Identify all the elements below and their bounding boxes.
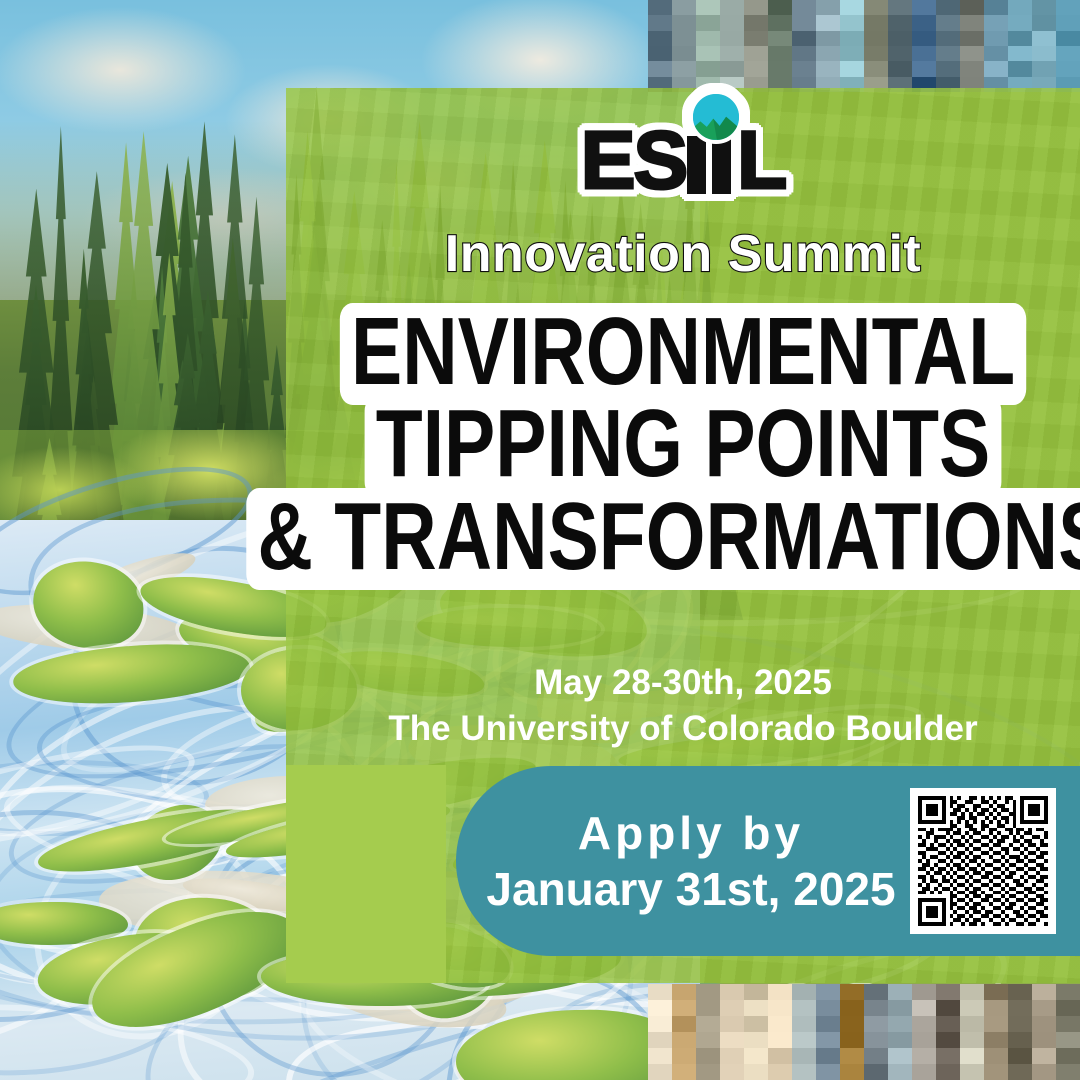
mosaic-pixel [672, 1048, 696, 1064]
mosaic-pixel [912, 1064, 936, 1080]
mosaic-pixel [984, 984, 1008, 1000]
mosaic-pixel [768, 15, 792, 30]
mosaic-pixel [960, 1048, 984, 1064]
mosaic-pixel [912, 1048, 936, 1064]
mosaic-pixel [1032, 984, 1056, 1000]
mosaic-pixel [984, 61, 1008, 76]
mosaic-pixel [1056, 61, 1080, 76]
mosaic-pixel [840, 0, 864, 15]
mosaic-pixel [792, 15, 816, 30]
mosaic-pixel [648, 1048, 672, 1064]
mosaic-pixel [648, 46, 672, 61]
mosaic-pixel [984, 1048, 1008, 1064]
mosaic-pixel [1056, 15, 1080, 30]
mosaic-pixel [960, 46, 984, 61]
mosaic-pixel [864, 46, 888, 61]
mosaic-pixel [792, 46, 816, 61]
mosaic-pixel [720, 1032, 744, 1048]
mosaic-pixel [696, 1048, 720, 1064]
mosaic-pixel [768, 46, 792, 61]
mosaic-pixel [816, 1048, 840, 1064]
mosaic-pixel [672, 15, 696, 30]
mosaic-pixel [936, 1000, 960, 1016]
mosaic-pixel [840, 15, 864, 30]
mosaic-pixel [744, 1016, 768, 1032]
mosaic-pixel [936, 0, 960, 15]
mosaic-pixel [816, 31, 840, 46]
mosaic-pixel [864, 984, 888, 1000]
mosaic-pixel [1032, 46, 1056, 61]
mosaic-pixel [888, 1048, 912, 1064]
mosaic-pixel [768, 61, 792, 76]
mosaic-pixel [840, 1000, 864, 1016]
mosaic-pixel [816, 61, 840, 76]
mosaic-pixel [648, 1016, 672, 1032]
mosaic-pixel [816, 984, 840, 1000]
mosaic-pixel [696, 46, 720, 61]
mosaic-pixel [648, 31, 672, 46]
mosaic-pixel [696, 15, 720, 30]
mosaic-pixel [1032, 1048, 1056, 1064]
mosaic-pixel [960, 1016, 984, 1032]
mosaic-pixel [912, 15, 936, 30]
pixel-mosaic-bottom-right [648, 984, 1080, 1080]
mosaic-pixel [960, 1000, 984, 1016]
esiil-logo-lockup: ES L [581, 116, 785, 194]
poster-content: ES L Innovation Summit ENVIRONMEN [286, 88, 1080, 983]
mosaic-pixel [792, 0, 816, 15]
mosaic-pixel [672, 984, 696, 1000]
qr-code-matrix [918, 796, 1048, 926]
mosaic-pixel [1056, 1016, 1080, 1032]
mosaic-pixel [768, 0, 792, 15]
mosaic-pixel [648, 15, 672, 30]
mosaic-pixel [672, 61, 696, 76]
mosaic-pixel [768, 984, 792, 1000]
mosaic-pixel [1056, 0, 1080, 15]
mosaic-pixel [840, 61, 864, 76]
mosaic-pixel [864, 1000, 888, 1016]
mosaic-pixel [648, 0, 672, 15]
mosaic-pixel [720, 0, 744, 15]
mosaic-pixel [888, 984, 912, 1000]
mosaic-pixel [1032, 15, 1056, 30]
mosaic-pixel [816, 0, 840, 15]
mosaic-pixel [936, 984, 960, 1000]
mosaic-pixel [744, 1048, 768, 1064]
mosaic-pixel [864, 1032, 888, 1048]
mosaic-pixel [888, 31, 912, 46]
mosaic-pixel [792, 1032, 816, 1048]
mosaic-pixel [648, 984, 672, 1000]
mosaic-pixel [768, 1064, 792, 1080]
mosaic-pixel [672, 46, 696, 61]
event-poster: ES L Innovation Summit ENVIRONMEN [0, 0, 1080, 1080]
mosaic-pixel [912, 0, 936, 15]
mosaic-pixel [1008, 15, 1032, 30]
mosaic-pixel [696, 1016, 720, 1032]
mosaic-pixel [840, 1048, 864, 1064]
mosaic-pixel [1008, 1032, 1032, 1048]
mosaic-pixel [672, 1016, 696, 1032]
mosaic-pixel [1056, 984, 1080, 1000]
mosaic-pixel [720, 15, 744, 30]
mosaic-pixel [912, 61, 936, 76]
summit-subtitle: Innovation Summit [286, 224, 1080, 284]
mosaic-pixel [840, 46, 864, 61]
mosaic-pixel [744, 15, 768, 30]
mosaic-pixel [1008, 1000, 1032, 1016]
mosaic-pixel [888, 1064, 912, 1080]
mosaic-pixel [744, 0, 768, 15]
mosaic-pixel [840, 1032, 864, 1048]
mosaic-pixel [768, 1032, 792, 1048]
mosaic-pixel [648, 61, 672, 76]
logo-letter-l: L [737, 127, 785, 194]
mosaic-pixel [984, 31, 1008, 46]
mosaic-pixel [744, 31, 768, 46]
mosaic-pixel [816, 1032, 840, 1048]
mosaic-pixel [672, 1064, 696, 1080]
mosaic-pixel [720, 984, 744, 1000]
mosaic-pixel [1032, 61, 1056, 76]
mosaic-pixel [1008, 1016, 1032, 1032]
mosaic-pixel [720, 61, 744, 76]
mountain-circle-icon [689, 90, 743, 144]
mosaic-pixel [816, 1000, 840, 1016]
mosaic-pixel [936, 15, 960, 30]
logo-letters-es: ES [581, 127, 686, 194]
mosaic-pixel [744, 984, 768, 1000]
mosaic-pixel [1008, 31, 1032, 46]
qr-module [1044, 922, 1048, 926]
mosaic-pixel [936, 61, 960, 76]
mosaic-pixel [720, 1048, 744, 1064]
mosaic-pixel [1008, 46, 1032, 61]
mosaic-pixel [672, 1032, 696, 1048]
mosaic-pixel [1032, 31, 1056, 46]
mosaic-pixel [792, 1048, 816, 1064]
headline-line-3: & TRANSFORMATIONS [246, 488, 1080, 590]
mosaic-pixel [696, 31, 720, 46]
mosaic-pixel [1056, 1064, 1080, 1080]
mosaic-pixel [888, 0, 912, 15]
logo-letters-ii [687, 116, 737, 194]
mosaic-pixel [984, 1016, 1008, 1032]
mosaic-pixel [792, 1000, 816, 1016]
mosaic-pixel [816, 1064, 840, 1080]
mosaic-pixel [1008, 984, 1032, 1000]
mosaic-pixel [840, 31, 864, 46]
mosaic-pixel [792, 1064, 816, 1080]
mosaic-pixel [864, 0, 888, 15]
mosaic-pixel [984, 1064, 1008, 1080]
mosaic-pixel [792, 31, 816, 46]
apply-text-block: Apply by January 31st, 2025 [456, 805, 906, 917]
mosaic-pixel [744, 1032, 768, 1048]
mosaic-pixel [960, 0, 984, 15]
mosaic-pixel [648, 1000, 672, 1016]
mosaic-pixel [840, 984, 864, 1000]
mosaic-pixel [696, 984, 720, 1000]
mosaic-pixel [696, 1000, 720, 1016]
mosaic-pixel [816, 15, 840, 30]
mosaic-pixel [840, 1064, 864, 1080]
mosaic-pixel [1032, 1032, 1056, 1048]
mosaic-pixel [1056, 1000, 1080, 1016]
mosaic-pixel [816, 1016, 840, 1032]
mosaic-pixel [744, 1000, 768, 1016]
mosaic-pixel [792, 1016, 816, 1032]
mosaic-pixel [768, 1000, 792, 1016]
mosaic-pixel [936, 31, 960, 46]
mosaic-pixel [960, 1064, 984, 1080]
mosaic-pixel [864, 31, 888, 46]
mosaic-pixel [864, 1064, 888, 1080]
mosaic-pixel [936, 1032, 960, 1048]
qr-code[interactable] [910, 788, 1056, 934]
mosaic-pixel [744, 61, 768, 76]
mosaic-pixel [720, 1000, 744, 1016]
mosaic-pixel [888, 1016, 912, 1032]
mosaic-pixel [696, 1064, 720, 1080]
mosaic-pixel [696, 0, 720, 15]
mosaic-pixel [888, 61, 912, 76]
mosaic-pixel [984, 15, 1008, 30]
mosaic-pixel [888, 46, 912, 61]
mosaic-pixel [912, 1000, 936, 1016]
mosaic-pixel [936, 1064, 960, 1080]
apply-label: Apply by [476, 805, 906, 861]
mosaic-pixel [744, 46, 768, 61]
headline-block: ENVIRONMENTAL TIPPING POINTS & TRANSFORM… [286, 303, 1080, 590]
mosaic-pixel [984, 1032, 1008, 1048]
mosaic-pixel [912, 46, 936, 61]
logo-bar-i1 [687, 136, 706, 194]
mosaic-pixel [864, 1048, 888, 1064]
mosaic-pixel [984, 1000, 1008, 1016]
mosaic-pixel [912, 984, 936, 1000]
mosaic-pixel [984, 46, 1008, 61]
mosaic-pixel [840, 1016, 864, 1032]
mosaic-pixel [768, 31, 792, 46]
event-info: May 28-30th, 2025 The University of Colo… [286, 660, 1080, 751]
mosaic-pixel [1056, 1032, 1080, 1048]
mosaic-pixel [1032, 0, 1056, 15]
mosaic-pixel [1008, 61, 1032, 76]
mosaic-pixel [768, 1016, 792, 1032]
mosaic-pixel [720, 31, 744, 46]
mosaic-pixel [672, 0, 696, 15]
mosaic-pixel [1056, 1048, 1080, 1064]
apply-deadline: January 31st, 2025 [476, 861, 906, 917]
mosaic-pixel [936, 1048, 960, 1064]
mosaic-pixel [1032, 1016, 1056, 1032]
mosaic-pixel [888, 1032, 912, 1048]
pixel-mosaic-top-right [648, 0, 1080, 92]
mosaic-pixel [672, 1000, 696, 1016]
mosaic-pixel [744, 1064, 768, 1080]
mosaic-pixel [960, 984, 984, 1000]
mosaic-pixel [936, 46, 960, 61]
mosaic-pixel [720, 1016, 744, 1032]
mosaic-pixel [768, 1048, 792, 1064]
mosaic-pixel [888, 15, 912, 30]
mosaic-pixel [792, 61, 816, 76]
mosaic-pixel [1032, 1000, 1056, 1016]
mosaic-pixel [1056, 31, 1080, 46]
mosaic-pixel [696, 1032, 720, 1048]
esiil-logo: ES L [286, 116, 1080, 194]
mosaic-pixel [888, 1000, 912, 1016]
mosaic-pixel [960, 31, 984, 46]
mosaic-pixel [960, 61, 984, 76]
mosaic-pixel [816, 46, 840, 61]
mosaic-pixel [912, 1032, 936, 1048]
mosaic-pixel [864, 61, 888, 76]
mosaic-pixel [696, 61, 720, 76]
logo-mark-mountains [693, 114, 739, 140]
mosaic-pixel [720, 1064, 744, 1080]
mosaic-pixel [936, 1016, 960, 1032]
mosaic-pixel [1056, 46, 1080, 61]
mosaic-pixel [984, 0, 1008, 15]
mosaic-pixel [960, 15, 984, 30]
mosaic-pixel [720, 46, 744, 61]
mosaic-pixel [864, 1016, 888, 1032]
mosaic-pixel [912, 31, 936, 46]
event-venue: The University of Colorado Boulder [286, 706, 1080, 752]
mosaic-pixel [648, 1064, 672, 1080]
mosaic-pixel [672, 31, 696, 46]
mosaic-pixel [1008, 1048, 1032, 1064]
mosaic-pixel [912, 1016, 936, 1032]
mosaic-pixel [1008, 0, 1032, 15]
mosaic-pixel [1032, 1064, 1056, 1080]
mosaic-pixel [864, 15, 888, 30]
event-date: May 28-30th, 2025 [286, 660, 1080, 706]
mosaic-pixel [792, 984, 816, 1000]
mosaic-pixel [1008, 1064, 1032, 1080]
mosaic-pixel [960, 1032, 984, 1048]
mosaic-pixel [648, 1032, 672, 1048]
apply-callout-panel[interactable]: Apply by January 31st, 2025 [456, 766, 1080, 956]
